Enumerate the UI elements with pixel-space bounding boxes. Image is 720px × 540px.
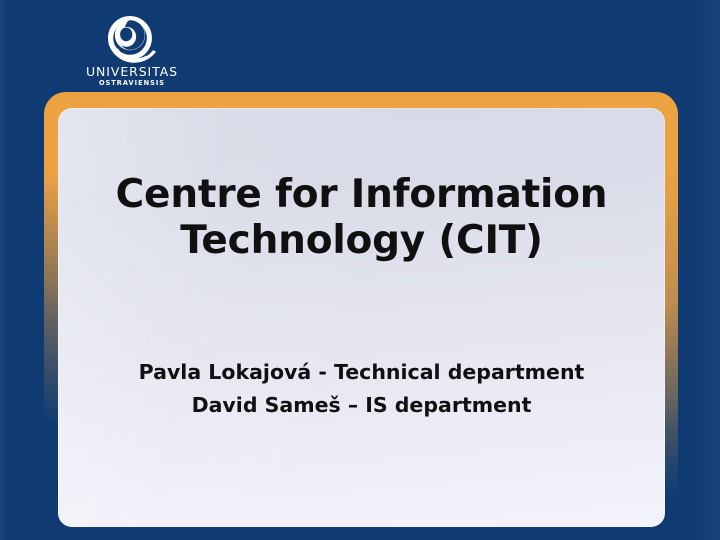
- slide-content: Centre for Information Technology (CIT) …: [58, 108, 665, 527]
- university-wordmark: UNIVERSITAS OSTRAVIENSIS: [86, 66, 178, 86]
- slide-subtitle-line-2: David Sameš – IS department: [84, 389, 639, 422]
- slide-content-panel: Centre for Information Technology (CIT) …: [58, 108, 665, 527]
- wordmark-main: UNIVERSITAS: [86, 66, 178, 79]
- slide-subtitle: Pavla Lokajová - Technical department Da…: [84, 356, 639, 422]
- universitas-ostraviensis-swirl-logo-icon: [102, 14, 158, 66]
- slide-title-line-2: Technology (CIT): [180, 218, 543, 263]
- slide-title: Centre for Information Technology (CIT): [84, 172, 639, 264]
- slide-title-line-1: Centre for Information: [116, 172, 608, 217]
- presentation-slide: UNIVERSITAS OSTRAVIENSIS Centre for Info…: [0, 0, 720, 540]
- slide-subtitle-line-1: Pavla Lokajová - Technical department: [84, 356, 639, 389]
- university-logo: UNIVERSITAS OSTRAVIENSIS: [86, 14, 178, 92]
- wordmark-sub: OSTRAVIENSIS: [86, 80, 178, 87]
